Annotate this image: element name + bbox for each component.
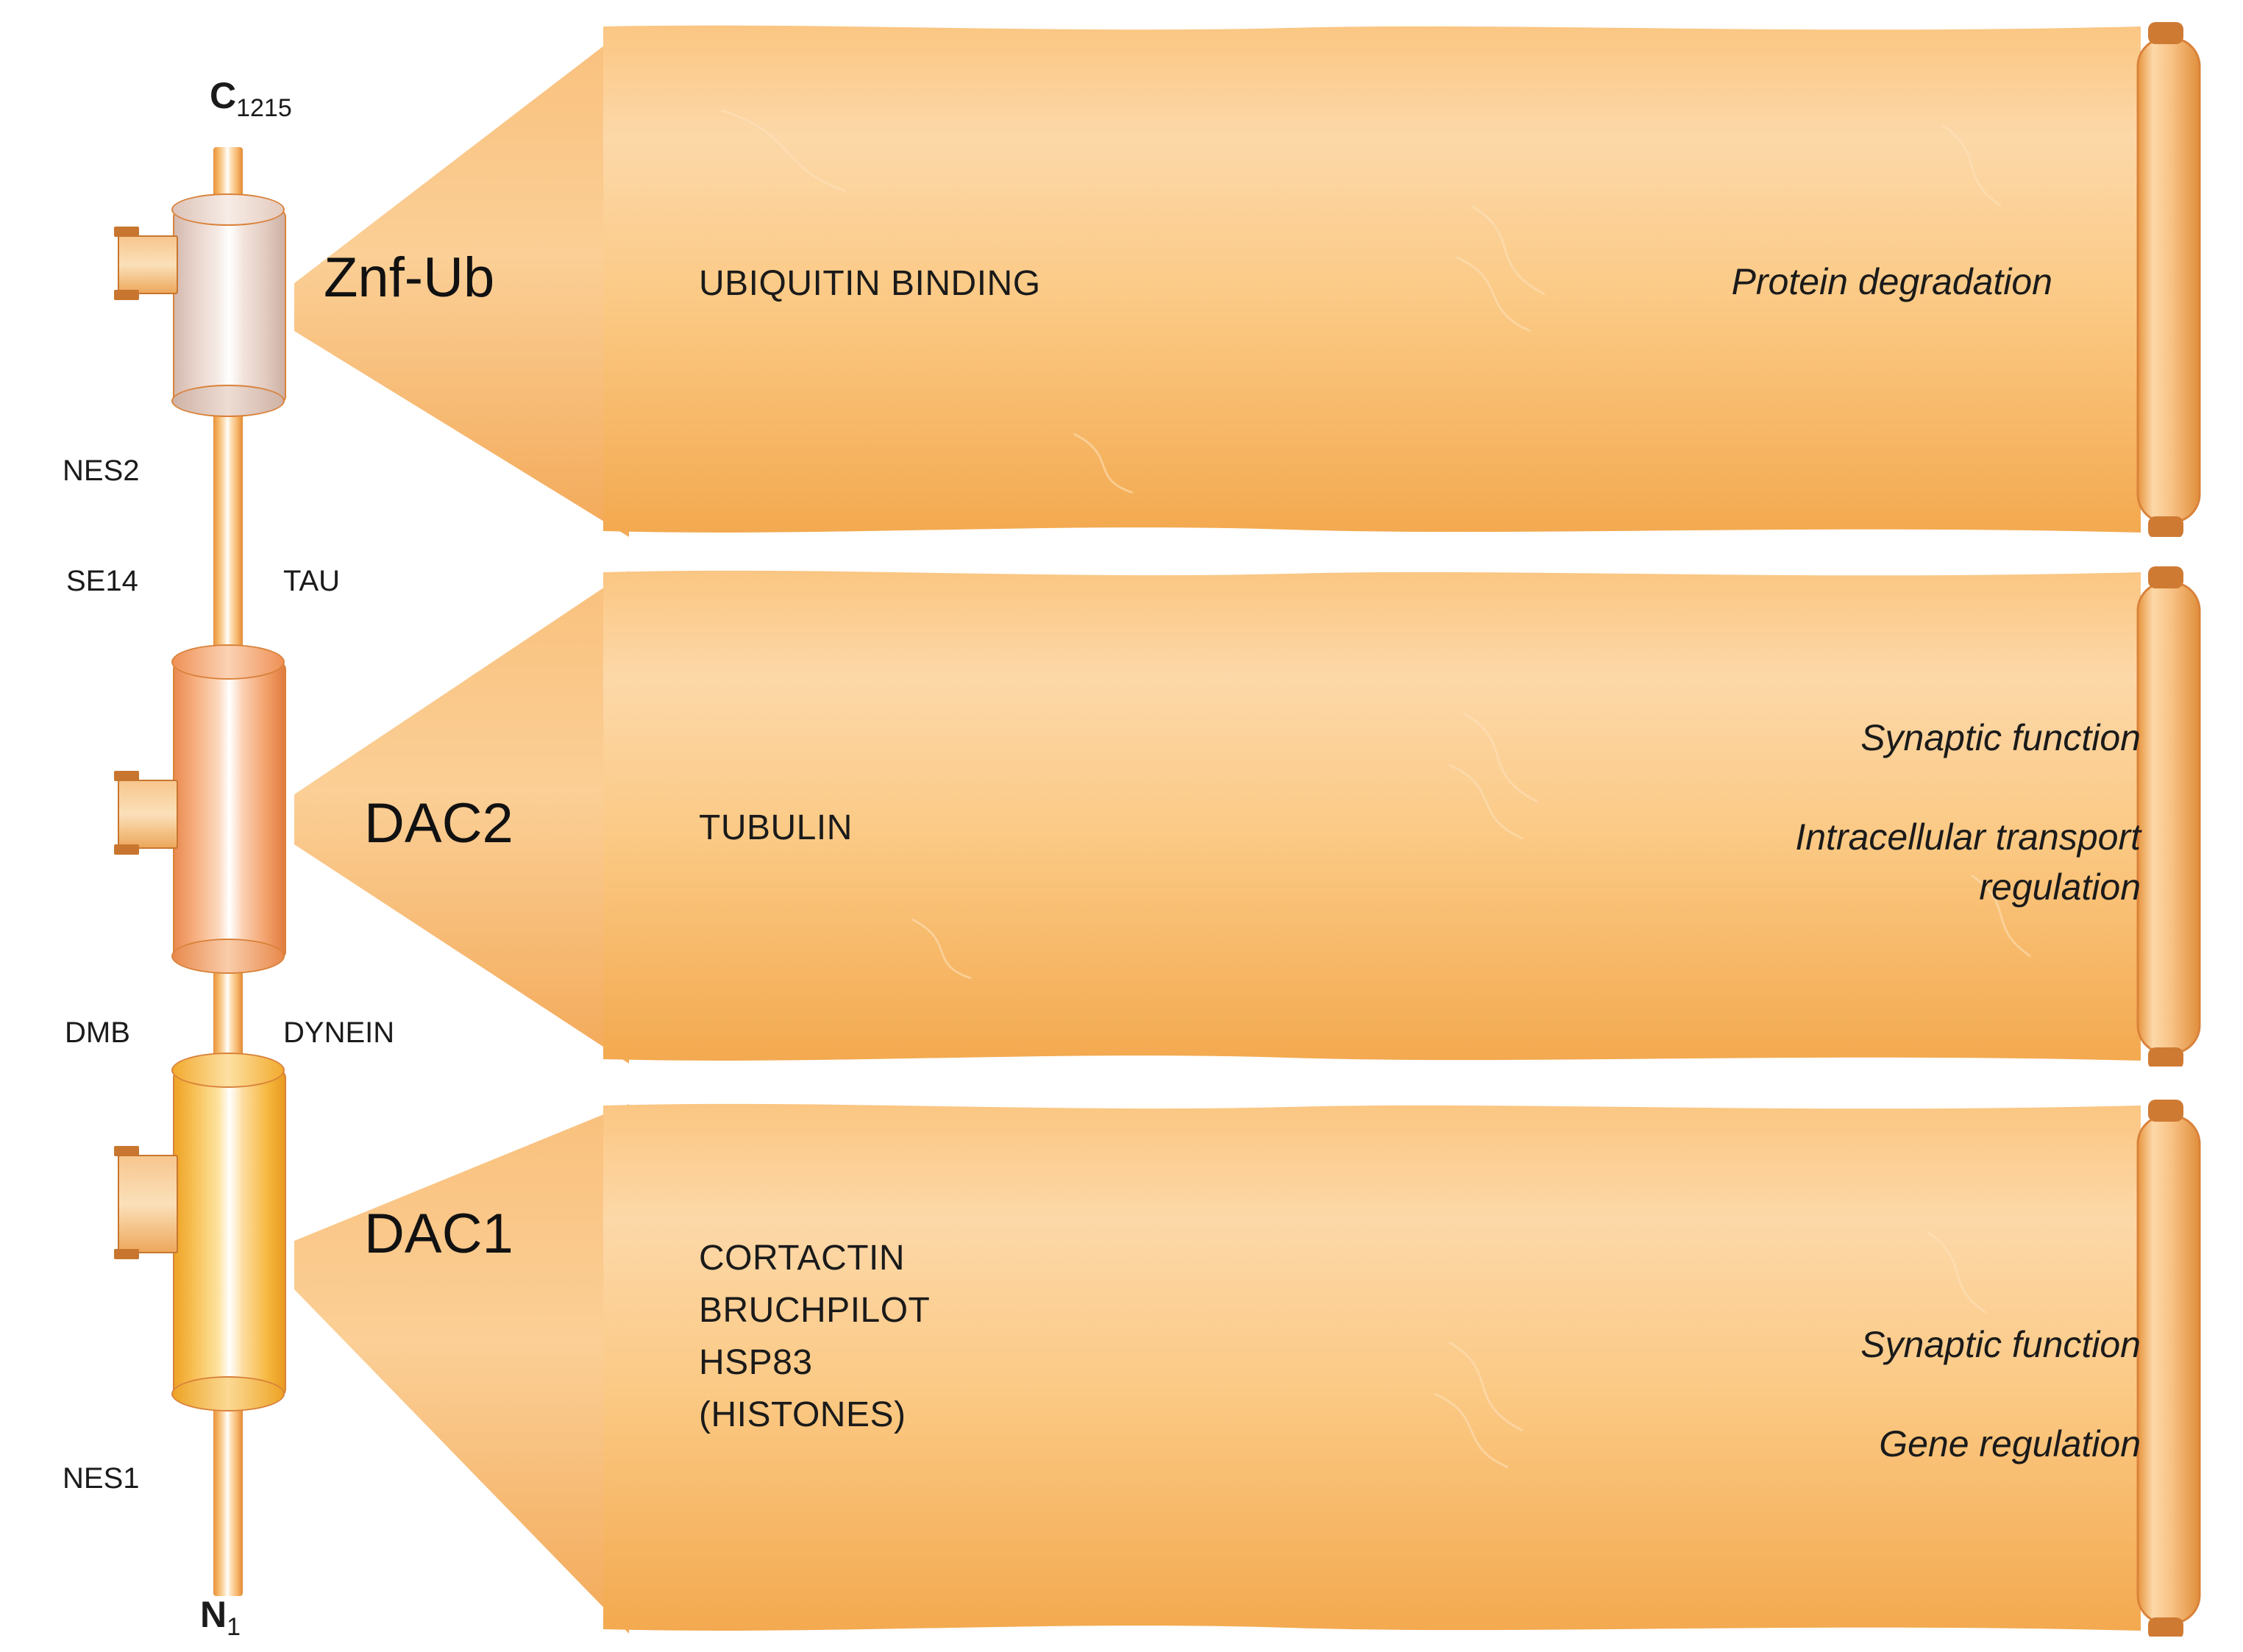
figure-canvas: UBIQUITIN BINDING Protein degradation [0, 0, 2243, 1652]
side-nub-cap-bottom-dac2 [114, 844, 139, 855]
side-nub-cap-bottom-dac1 [114, 1249, 139, 1259]
cylinder-cap-bottom-dac2 [171, 939, 285, 974]
label-nes2: NES2 [63, 456, 140, 485]
domain-label-dac2: DAC2 [364, 796, 513, 852]
domain-label-znf-ub: Znf-Ub [324, 250, 494, 306]
side-nub-znf-ub [118, 235, 178, 294]
scroll-dac1: CORTACTIN BRUCHPILOT HSP83 (HISTONES) Sy… [603, 1100, 2229, 1637]
cylinder-cap-top-dac2 [171, 644, 285, 680]
scroll-znf-ub: UBIQUITIN BINDING Protein degradation [603, 22, 2229, 537]
side-nub-dac2 [118, 780, 178, 849]
domain-cylinder-znf-ub [173, 210, 283, 401]
partners-znf-ub: UBIQUITIN BINDING [699, 257, 1041, 310]
label-tau: TAU [283, 566, 340, 596]
scroll-dac2: TUBULIN Synaptic function Intracellular … [603, 566, 2229, 1067]
functions-dac2: Synaptic function Intracellular transpor… [1795, 713, 2141, 912]
cylinder-cap-bottom-dac1 [171, 1376, 285, 1411]
domain-cylinder-dac1 [173, 1070, 283, 1394]
cylinder-cap-top-znf-ub [171, 193, 285, 226]
label-dynein: DYNEIN [283, 1018, 394, 1047]
partners-dac1: CORTACTIN BRUCHPILOT HSP83 (HISTONES) [699, 1232, 930, 1441]
functions-dac1: Synaptic function Gene regulation [1860, 1320, 2141, 1470]
c-terminus-letter: C [210, 75, 236, 116]
functions-znf-ub: Protein degradation [1732, 257, 2052, 307]
backbone-rod-upper [213, 382, 243, 677]
n-terminus-letter: N [200, 1594, 227, 1635]
side-nub-cap-top-znf-ub [114, 227, 139, 237]
label-n-terminus: N1 [200, 1596, 241, 1639]
partners-dac2: TUBULIN [699, 802, 853, 854]
backbone-rod-bottom [213, 1383, 243, 1596]
side-nub-cap-top-dac1 [114, 1146, 139, 1156]
cylinder-cap-top-dac1 [171, 1053, 285, 1088]
label-dmb: DMB [65, 1018, 130, 1047]
funnel-dac1 [294, 1100, 633, 1637]
domain-cylinder-dac2 [173, 662, 283, 956]
side-nub-cap-bottom-znf-ub [114, 290, 139, 300]
label-nes1: NES1 [63, 1464, 140, 1493]
side-nub-cap-top-dac2 [114, 771, 139, 781]
label-c-terminus: C1215 [210, 77, 292, 121]
domain-label-dac1: DAC1 [364, 1206, 513, 1262]
n-terminus-position: 1 [227, 1613, 241, 1641]
cylinder-cap-bottom-znf-ub [171, 385, 285, 417]
c-terminus-position: 1215 [236, 94, 292, 122]
label-se14: SE14 [66, 566, 138, 596]
side-nub-dac1 [118, 1155, 178, 1253]
